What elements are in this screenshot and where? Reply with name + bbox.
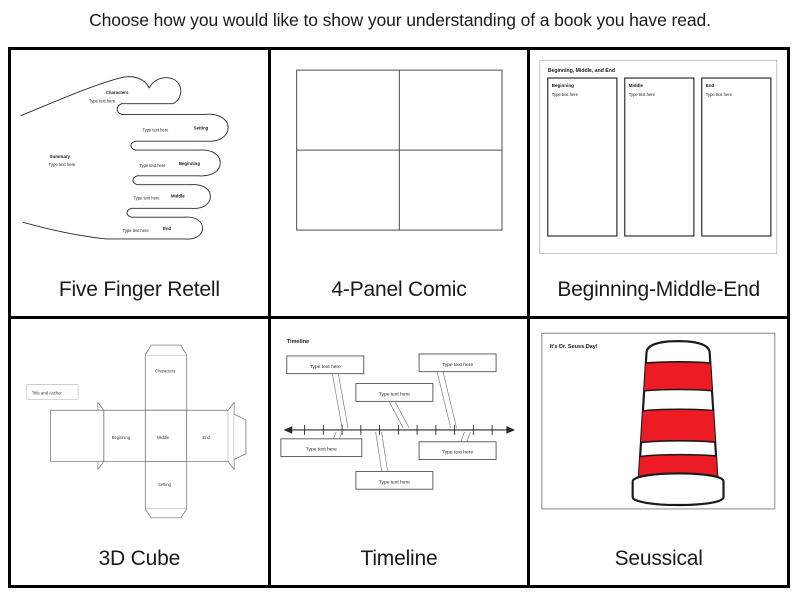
- cube-label-middle: Middle: [157, 435, 170, 440]
- finger-label-beginning: Beginning: [179, 161, 201, 166]
- bme-column-title-beginning: Beginning: [552, 83, 574, 88]
- option-caption-timeline: Timeline: [271, 535, 528, 583]
- cube-label-beginning: Beginning: [112, 435, 131, 440]
- option-cell-seussical[interactable]: It's Dr. Seuss Day!: [529, 318, 789, 587]
- five-finger-retell-art: Characters Type text here Setting Type t…: [11, 50, 268, 266]
- cube-label-characters: Characters: [155, 369, 175, 374]
- bme-column-beginning[interactable]: [548, 78, 617, 236]
- timeline-leader-3b: [442, 371, 456, 428]
- timeline-arrow-left: [284, 427, 291, 433]
- bme-column-title-end: End: [706, 83, 715, 88]
- options-table: Characters Type text here Setting Type t…: [8, 47, 790, 588]
- seussical-art: It's Dr. Seuss Day!: [530, 319, 787, 535]
- slide-root: Choose how you would like to show your u…: [0, 0, 800, 600]
- timeline-callout-text-4: Type text here: [305, 447, 336, 453]
- bme-column-placeholder-beginning: Type text here: [552, 92, 579, 97]
- cube-callout-label: Title and Author: [32, 390, 63, 395]
- cube-face-blank-left[interactable]: [50, 410, 103, 461]
- finger-label-setting: Setting: [194, 125, 209, 130]
- bme-heading: Beginning, Middle, and End: [548, 68, 615, 74]
- timeline-leader-1: [332, 373, 342, 428]
- option-cell-3d-cube[interactable]: Characters Beginning Middle End Setting …: [10, 318, 270, 587]
- bme-column-middle[interactable]: [625, 78, 694, 236]
- options-row-1: Characters Type text here Setting Type t…: [10, 49, 789, 318]
- hat-brim: [633, 473, 724, 505]
- timeline-leader-2b: [395, 402, 409, 428]
- bme-column-end[interactable]: [702, 78, 771, 236]
- option-cell-timeline[interactable]: Timeline: [269, 318, 529, 587]
- option-cell-4-panel-comic[interactable]: 4-Panel Comic: [269, 49, 529, 318]
- palm-label-summary: Summary: [49, 154, 70, 159]
- timeline-heading: Timeline: [286, 339, 308, 345]
- bme-column-placeholder-end: Type text here: [706, 92, 733, 97]
- timeline-callout-text-5: Type text here: [378, 479, 409, 485]
- 4-panel-comic-art: [271, 50, 528, 266]
- options-row-2: Characters Beginning Middle End Setting …: [10, 318, 789, 587]
- timeline-art: Timeline: [271, 319, 528, 535]
- hat-stripe-2: [632, 409, 727, 444]
- option-caption-five-finger-retell: Five Finger Retell: [11, 266, 268, 314]
- cube-flap-bottom: [145, 509, 186, 518]
- timeline-callout-text-2: Type text here: [378, 391, 409, 397]
- finger-placeholder-beginning: Type text here: [139, 163, 166, 168]
- timeline-callout-text-3: Type text here: [442, 362, 473, 368]
- beginning-middle-end-art: Beginning, Middle, and End Beginning Typ…: [530, 50, 787, 266]
- option-caption-3d-cube: 3D Cube: [11, 535, 268, 583]
- timeline-leader-2: [389, 402, 403, 428]
- cube-face-characters[interactable]: [145, 355, 186, 410]
- option-cell-beginning-middle-end[interactable]: Beginning, Middle, and End Beginning Typ…: [529, 49, 789, 318]
- option-caption-beginning-middle-end: Beginning-Middle-End: [530, 266, 787, 314]
- option-caption-4-panel-comic: 4-Panel Comic: [271, 266, 528, 314]
- timeline-arrow-right: [507, 427, 514, 433]
- cube-label-setting: Setting: [158, 482, 172, 487]
- finger-label-characters: Characters: [106, 90, 129, 95]
- page-title: Choose how you would like to show your u…: [0, 10, 800, 31]
- finger-placeholder-middle: Type text here: [133, 195, 160, 200]
- cube-tab-right: [234, 414, 246, 459]
- option-cell-five-finger-retell[interactable]: Characters Type text here Setting Type t…: [10, 49, 270, 318]
- timeline-callout-text-1: Type text here: [309, 364, 340, 370]
- finger-placeholder-characters: Type text here: [89, 99, 116, 104]
- finger-placeholder-end: Type text here: [123, 228, 150, 233]
- timeline-leader-3: [436, 371, 450, 428]
- cube-label-end: End: [203, 435, 211, 440]
- cube-flap-top: [145, 345, 186, 355]
- finger-placeholder-setting: Type text here: [142, 127, 169, 132]
- bme-column-title-middle: Middle: [629, 83, 644, 88]
- 3d-cube-art: Characters Beginning Middle End Setting …: [11, 319, 268, 535]
- finger-label-middle: Middle: [171, 193, 185, 198]
- seussical-heading: It's Dr. Seuss Day!: [550, 344, 598, 350]
- timeline-leader-1b: [338, 373, 348, 428]
- palm-placeholder-summary: Type text here: [49, 162, 76, 167]
- cube-flap-end: [228, 402, 234, 469]
- timeline-callout-text-6: Type text here: [442, 450, 473, 456]
- finger-label-end: End: [163, 226, 172, 231]
- bme-column-placeholder-middle: Type text here: [629, 92, 656, 97]
- option-caption-seussical: Seussical: [530, 535, 787, 583]
